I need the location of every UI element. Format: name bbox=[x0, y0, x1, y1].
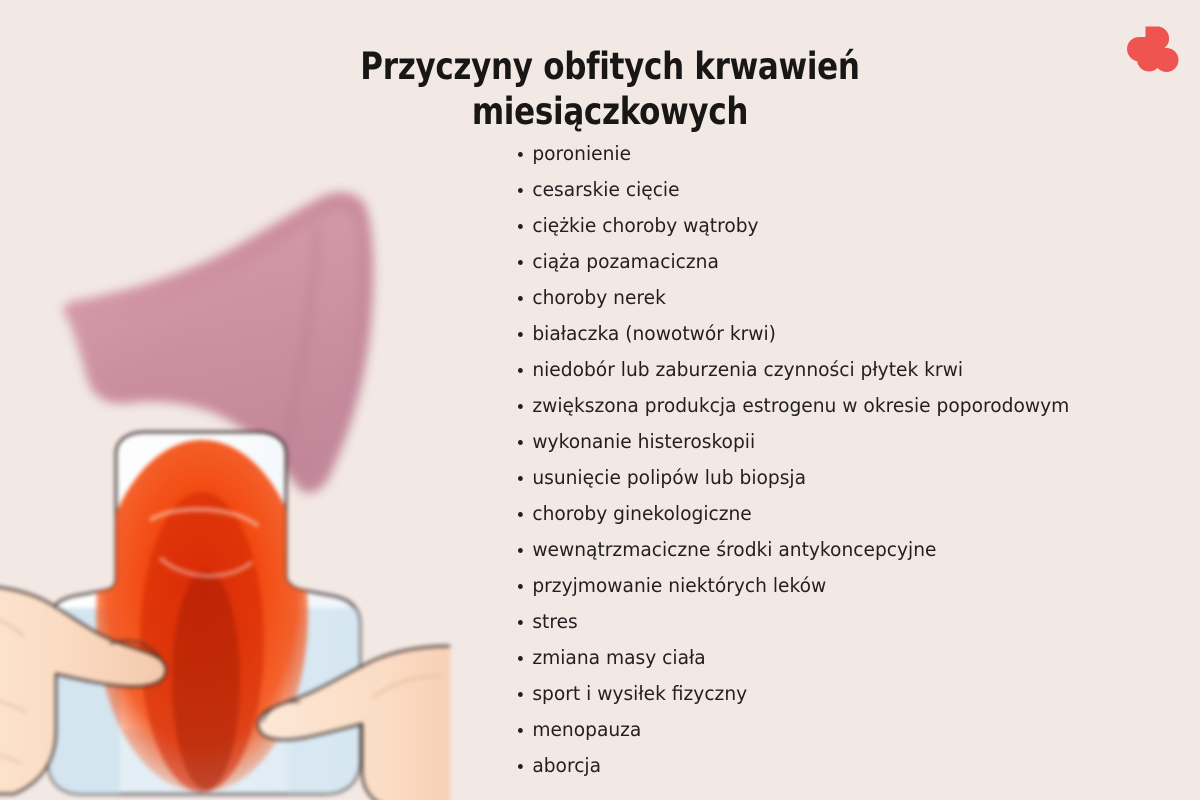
list-item-label: przyjmowanie niektórych leków bbox=[532, 574, 826, 597]
list-item: aborcja bbox=[518, 748, 1091, 784]
list-item: sport i wysiłek fizyczny bbox=[518, 676, 1091, 712]
bullet-dot-icon bbox=[518, 224, 523, 229]
bullet-dot-icon bbox=[518, 620, 523, 625]
list-item: ciężkie choroby wątroby bbox=[518, 208, 1091, 244]
bullet-dot-icon bbox=[518, 764, 523, 769]
infographic-canvas: Przyczyny obfitych krwawień miesiączkowy… bbox=[0, 0, 1200, 800]
list-item: stres bbox=[518, 604, 1091, 640]
list-item: ciąża pozamaciczna bbox=[518, 244, 1091, 280]
list-item-label: wykonanie histeroskopii bbox=[532, 430, 755, 453]
list-item: wykonanie histeroskopii bbox=[518, 424, 1091, 460]
list-item-label: stres bbox=[532, 610, 577, 633]
causes-list: poronieniecesarskie cięcieciężkie chorob… bbox=[518, 136, 1118, 784]
page-title-line-2: miesiączkowych bbox=[472, 90, 748, 133]
four-petal-logo-icon bbox=[1120, 16, 1186, 82]
page-title: Przyczyny obfitych krwawień miesiączkowy… bbox=[322, 45, 899, 135]
page-title-line-1: Przyczyny obfitych krwawień bbox=[360, 45, 859, 88]
list-item: zmiana masy ciała bbox=[518, 640, 1091, 676]
bullet-dot-icon bbox=[518, 332, 523, 337]
bullet-dot-icon bbox=[518, 692, 523, 697]
list-item-label: sport i wysiłek fizyczny bbox=[532, 682, 747, 705]
bullet-dot-icon bbox=[518, 404, 523, 409]
list-item: poronienie bbox=[518, 136, 1091, 172]
list-item-label: ciężkie choroby wątroby bbox=[532, 214, 758, 237]
list-item: usunięcie polipów lub biopsja bbox=[518, 460, 1091, 496]
list-item: menopauza bbox=[518, 712, 1091, 748]
list-item: wewnątrzmaciczne środki antykoncepcyjne bbox=[518, 532, 1091, 568]
list-item: cesarskie cięcie bbox=[518, 172, 1091, 208]
list-item: niedobór lub zaburzenia czynności płytek… bbox=[518, 352, 1091, 388]
list-item-label: poronienie bbox=[532, 142, 631, 165]
list-item-label: cesarskie cięcie bbox=[532, 178, 679, 201]
list-item-label: choroby ginekologiczne bbox=[532, 502, 751, 525]
list-item-label: choroby nerek bbox=[532, 286, 666, 309]
list-item-label: usunięcie polipów lub biopsja bbox=[532, 466, 806, 489]
list-item: choroby nerek bbox=[518, 280, 1091, 316]
list-item: białaczka (nowotwór krwi) bbox=[518, 316, 1091, 352]
bullet-dot-icon bbox=[518, 548, 523, 553]
list-item-label: niedobór lub zaburzenia czynności płytek… bbox=[532, 358, 963, 381]
list-item-label: aborcja bbox=[532, 754, 601, 777]
bullet-dot-icon bbox=[518, 260, 523, 265]
list-item-label: zwiększona produkcja estrogenu w okresie… bbox=[532, 394, 1069, 417]
list-item: choroby ginekologiczne bbox=[518, 496, 1091, 532]
bullet-dot-icon bbox=[518, 368, 523, 373]
bullet-dot-icon bbox=[518, 584, 523, 589]
hands-holding-pad-illustration bbox=[0, 430, 450, 800]
bullet-dot-icon bbox=[518, 656, 523, 661]
list-item-label: menopauza bbox=[532, 718, 641, 741]
list-item: zwiększona produkcja estrogenu w okresie… bbox=[518, 388, 1091, 424]
bullet-dot-icon bbox=[518, 512, 523, 517]
bullet-dot-icon bbox=[518, 440, 523, 445]
list-item-label: wewnątrzmaciczne środki antykoncepcyjne bbox=[532, 538, 936, 561]
bullet-dot-icon bbox=[518, 296, 523, 301]
list-item-label: ciąża pozamaciczna bbox=[532, 250, 719, 273]
bullet-dot-icon bbox=[518, 476, 523, 481]
four-petal-logo bbox=[1120, 16, 1186, 82]
bullet-dot-icon bbox=[518, 188, 523, 193]
list-item-label: zmiana masy ciała bbox=[532, 646, 705, 669]
bullet-dot-icon bbox=[518, 728, 523, 733]
bullet-dot-icon bbox=[518, 152, 523, 157]
list-item: przyjmowanie niektórych leków bbox=[518, 568, 1091, 604]
list-item-label: białaczka (nowotwór krwi) bbox=[532, 322, 776, 345]
